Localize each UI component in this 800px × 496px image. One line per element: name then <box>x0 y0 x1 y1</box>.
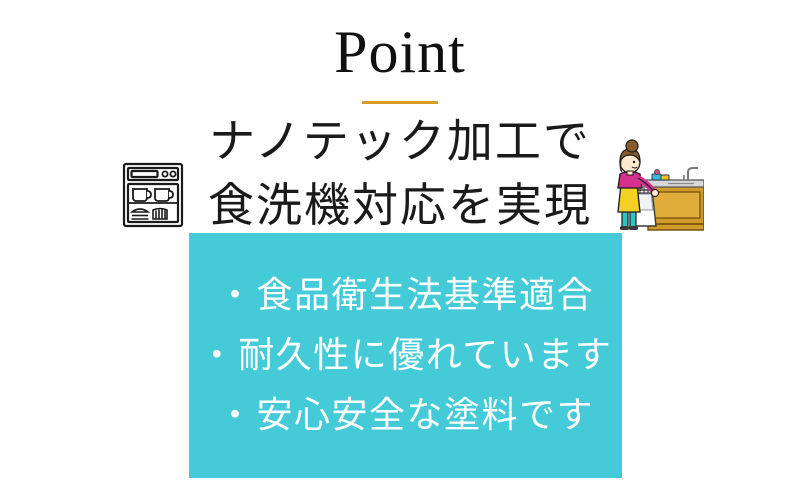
list-item: ・ 耐久性に優れています <box>189 326 622 386</box>
bullet-point-icon: ・ <box>217 386 255 446</box>
bullet-point-icon: ・ <box>199 326 237 386</box>
list-item-label: 耐久性に優れています <box>238 326 612 386</box>
features-panel: ・ 食品衛生法基準適合 ・ 耐久性に優れています ・ 安心安全な塗料です <box>189 233 622 478</box>
dishwasher-icon <box>120 160 186 230</box>
list-item: ・ 安心安全な塗料です <box>189 386 622 446</box>
title-divider <box>362 101 438 104</box>
feature-list: ・ 食品衛生法基準適合 ・ 耐久性に優れています ・ 安心安全な塗料です <box>189 233 622 478</box>
woman-loading-dishwasher-illustration <box>608 138 704 236</box>
slide-canvas: Point ナノテック加工で 食洗機対応を実現 <box>0 0 800 496</box>
page-title: Point <box>0 18 800 86</box>
bullet-point-icon: ・ <box>217 266 255 326</box>
list-item-label: 食品衛生法基準適合 <box>257 266 595 326</box>
list-item: ・ 食品衛生法基準適合 <box>189 266 622 326</box>
list-item-label: 安心安全な塗料です <box>257 386 595 446</box>
